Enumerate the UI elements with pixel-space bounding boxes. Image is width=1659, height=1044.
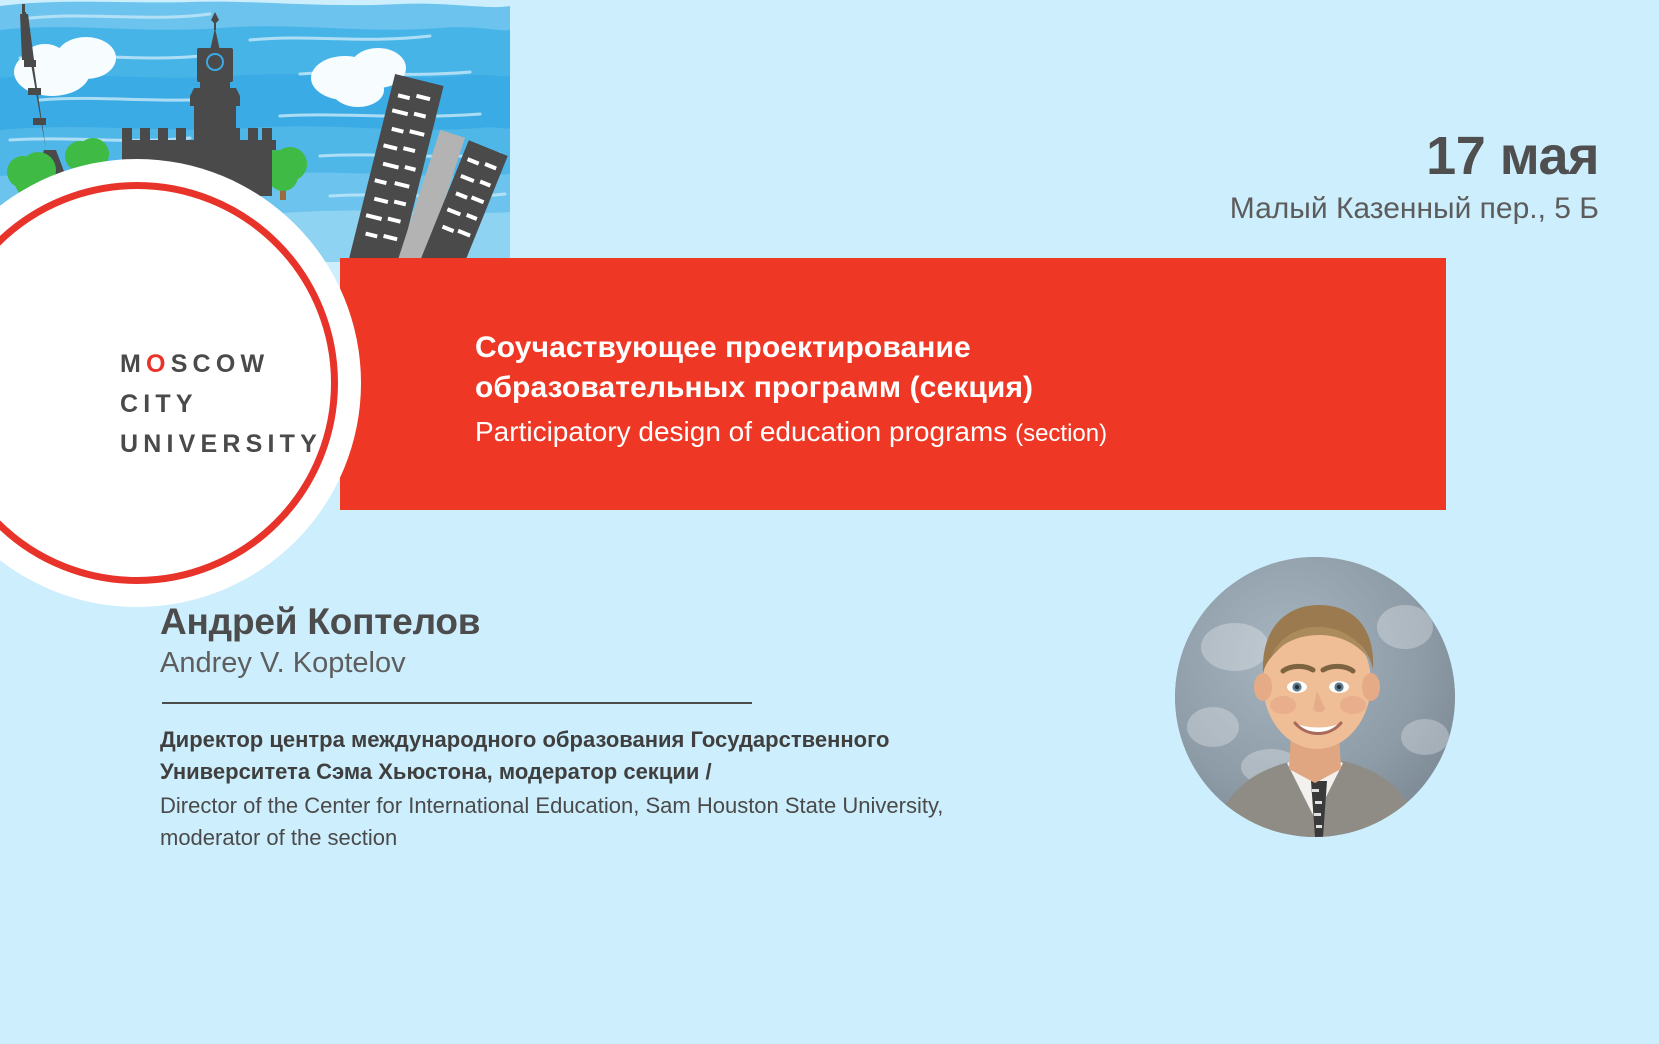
- event-date-block: 17 мая Малый Казенный пер., 5 Б: [1230, 128, 1599, 227]
- speaker-name-en: Andrey V. Koptelov: [160, 646, 1080, 681]
- speaker-role-ru-line1: Директор центра международного образован…: [160, 724, 1080, 756]
- logo-line-moscow: MOSCOW: [120, 352, 322, 377]
- moscow-city-university-logo: MOSCOW CITY UNIVERSITY: [120, 352, 322, 472]
- logo-moscow-pre: M: [120, 350, 146, 378]
- speaker-info-block: Андрей Коптелов Andrey V. Koptelov Дирек…: [160, 600, 1080, 854]
- session-title-en-suffix: (section): [1015, 420, 1107, 447]
- session-title-en-main: Participatory design of education progra…: [475, 416, 1007, 447]
- speaker-role-ru: Директор центра международного образован…: [160, 724, 1080, 788]
- logo-line-city: CITY: [120, 392, 322, 417]
- event-announcement-slide: Соучаствующее проектирование образовател…: [0, 0, 1659, 1044]
- speaker-name-ru: Андрей Коптелов: [160, 600, 1080, 644]
- speaker-portrait-photo: [1175, 557, 1455, 837]
- logo-line-university: UNIVERSITY: [120, 432, 322, 457]
- session-title-ru-line1: Соучаствующее проектирование: [475, 328, 1415, 368]
- event-address: Малый Казенный пер., 5 Б: [1230, 191, 1599, 227]
- speaker-role-en: Director of the Center for International…: [160, 790, 1080, 854]
- session-title-en: Participatory design of education progra…: [475, 414, 1415, 450]
- logo-moscow-accent-o: O: [146, 350, 171, 378]
- speaker-divider: [162, 702, 752, 704]
- session-title-ru: Соучаствующее проектирование образовател…: [475, 328, 1415, 407]
- logo-moscow-post: SCOW: [171, 350, 270, 378]
- speaker-role-ru-line2: Университета Сэма Хьюстона, модератор се…: [160, 756, 1080, 788]
- session-title-ru-line2: образовательных программ (секция): [475, 368, 1415, 408]
- session-title-text-group: Соучаствующее проектирование образовател…: [475, 328, 1415, 451]
- speaker-role-en-line2: moderator of the section: [160, 822, 1080, 854]
- event-date: 17 мая: [1230, 128, 1599, 185]
- speaker-role-en-line1: Director of the Center for International…: [160, 790, 1080, 822]
